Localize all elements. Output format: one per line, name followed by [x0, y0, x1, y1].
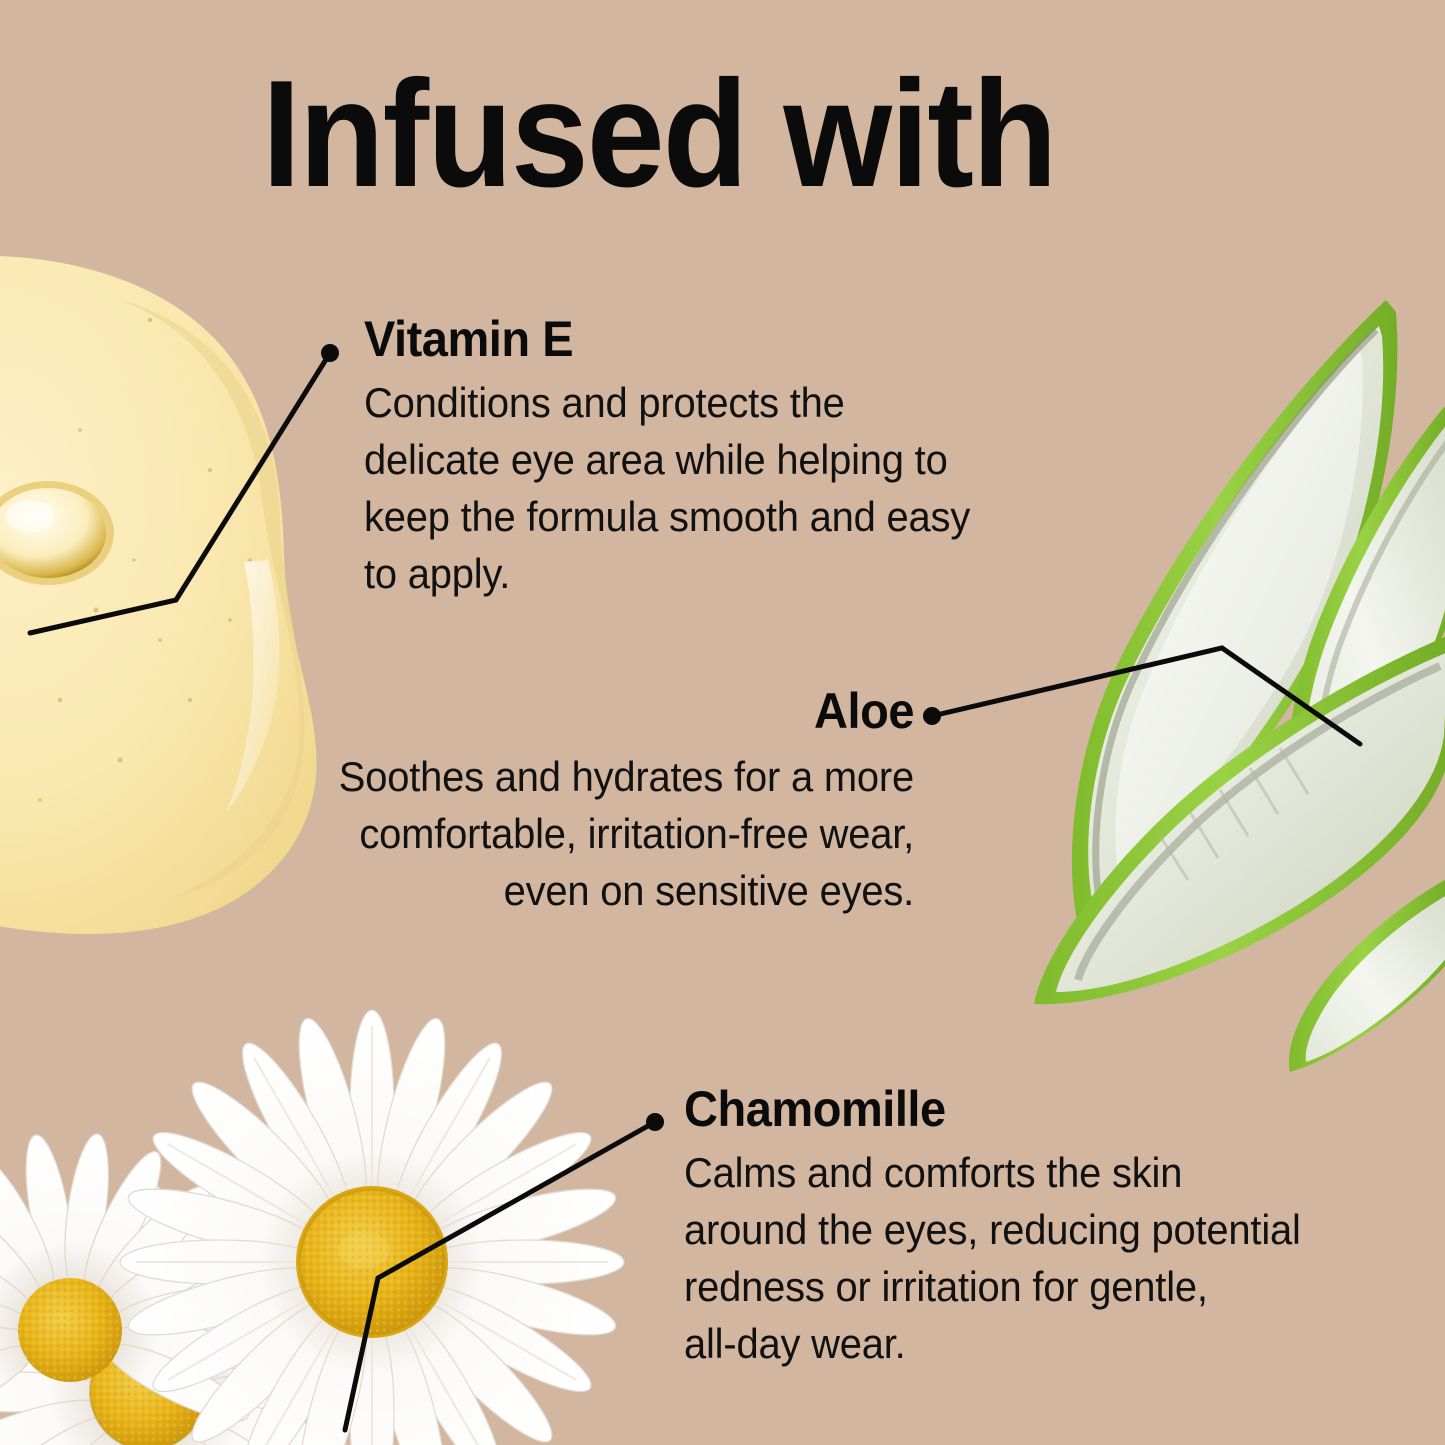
desc-line: even on sensitive eyes. — [331, 862, 914, 919]
ingredient-name-chamomille: Chamomille — [684, 1083, 1323, 1136]
desc-line: delicate eye area while helping to — [364, 431, 991, 488]
ingredient-block-chamomille: Chamomille Calms and comforts the skin a… — [684, 1083, 1364, 1372]
flower-center — [296, 1186, 448, 1338]
ingredient-infographic: Infused with Vitamin E Conditions and pr… — [0, 0, 1445, 1445]
ingredient-block-aloe: Aloe Soothes and hydrates for a more com… — [300, 685, 914, 919]
flower-petals — [120, 1010, 624, 1445]
chamomile-flower — [120, 1010, 624, 1445]
ingredient-description-chamomille: Calms and comforts the skin around the e… — [684, 1144, 1330, 1372]
desc-line: around the eyes, reducing potential — [684, 1201, 1330, 1258]
aloe-vera-illustration — [1034, 300, 1445, 1072]
ingredient-name-aloe: Aloe — [337, 685, 914, 738]
leader-line-chamomille — [345, 1113, 664, 1430]
desc-line: redness or irritation for gentle, — [684, 1258, 1330, 1315]
chamomile-flower — [0, 1131, 269, 1439]
flower-petals — [0, 1131, 269, 1439]
desc-line: keep the formula smooth and easy — [364, 488, 991, 545]
flower-petals — [0, 1174, 366, 1445]
chamomile-flower — [0, 1174, 366, 1445]
ingredient-description-aloe: Soothes and hydrates for a more comforta… — [331, 748, 914, 919]
flower-center — [18, 1278, 122, 1382]
aloe-leaf-slice — [1287, 398, 1445, 856]
flower-center — [90, 1334, 206, 1445]
desc-line: comfortable, irritation-free wear, — [331, 805, 914, 862]
yellow-serum-illustration — [0, 256, 317, 934]
desc-line: all-day wear. — [684, 1315, 1330, 1372]
serum-bubble — [0, 481, 114, 585]
ingredient-block-vitamin-e: Vitamin E Conditions and protects the de… — [364, 313, 1024, 602]
chamomile-illustration — [0, 1010, 624, 1445]
desc-line: to apply. — [364, 545, 991, 602]
ingredient-name-vitamin-e: Vitamin E — [364, 313, 984, 366]
aloe-leaf-slice — [1072, 300, 1397, 935]
desc-line: Conditions and protects the — [364, 374, 991, 431]
desc-line: Calms and comforts the skin — [684, 1144, 1330, 1201]
aloe-leaf-slice — [1034, 634, 1445, 1004]
page-title: Infused with — [262, 58, 1056, 210]
ingredient-description-vitamin-e: Conditions and protects the delicate eye… — [364, 374, 991, 602]
aloe-leaf-slice — [1289, 876, 1445, 1072]
desc-line: Soothes and hydrates for a more — [331, 748, 914, 805]
leader-line-vitamin-e — [30, 344, 339, 633]
leader-line-aloe — [923, 648, 1360, 744]
